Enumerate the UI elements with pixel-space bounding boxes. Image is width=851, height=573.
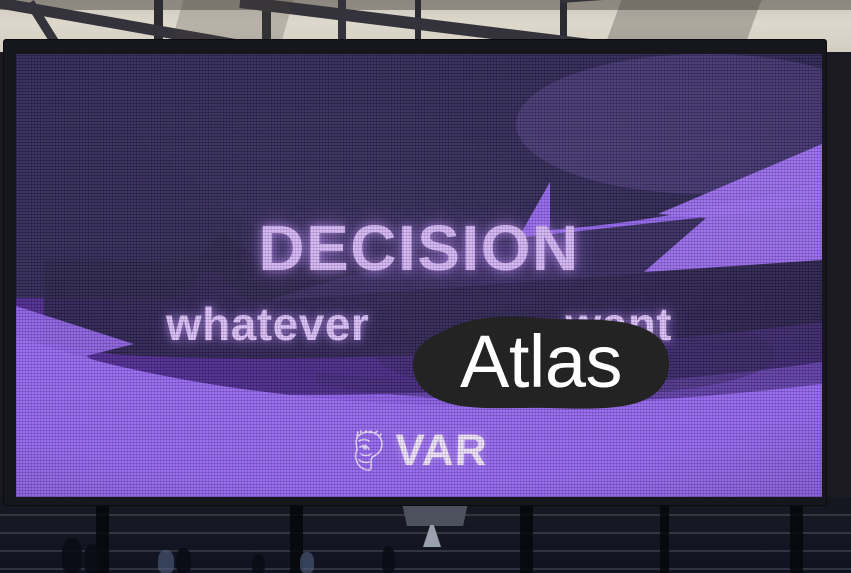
subline-before: whatever xyxy=(166,298,369,350)
atlas-overlay: Atlas xyxy=(410,315,672,411)
atlas-label: Atlas xyxy=(410,315,672,411)
speaker-cone xyxy=(423,525,441,547)
headline-decision: DECISION xyxy=(16,211,822,285)
stadium-screenshot: DECISION whateverwant xyxy=(0,0,851,573)
led-screen-bezel: DECISION whateverwant xyxy=(4,40,826,505)
premier-league-lion-crest-icon xyxy=(350,430,388,472)
led-screen: DECISION whateverwant xyxy=(16,54,822,497)
stadium-stands xyxy=(0,498,851,573)
var-wordmark: VAR xyxy=(394,426,488,476)
var-logo-lockup: VAR xyxy=(16,426,822,476)
